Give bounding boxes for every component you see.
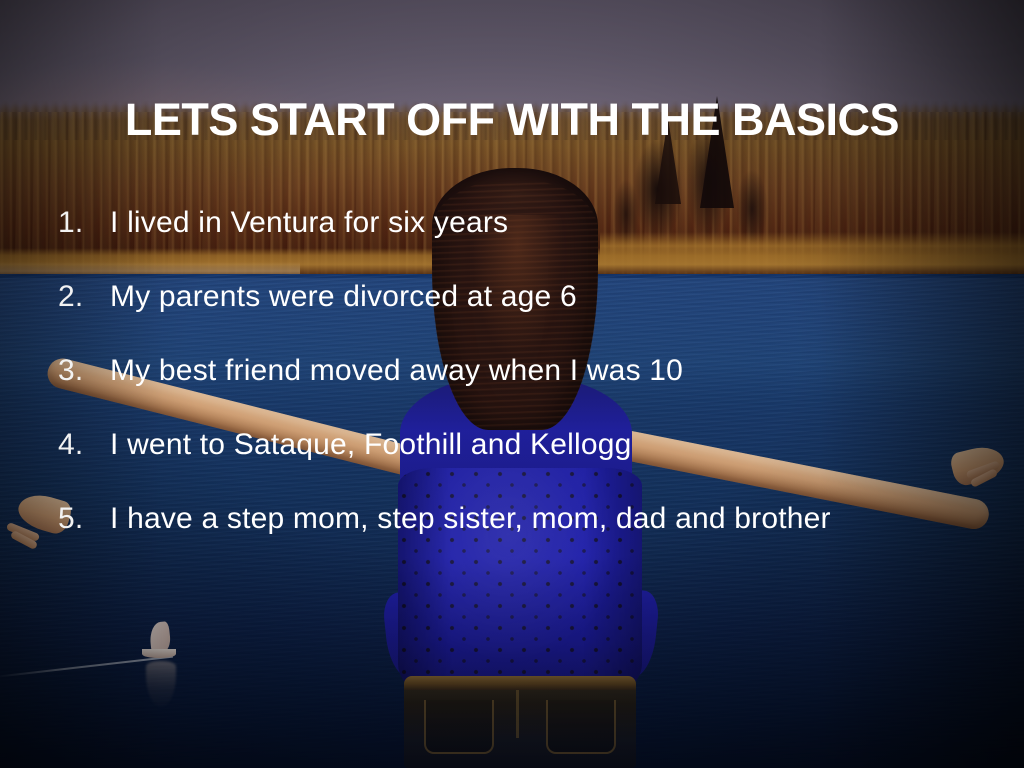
list-item: 4. I went to Sataque, Foothill and Kello… xyxy=(58,428,1018,502)
presentation-slide: LETS START OFF WITH THE BASICS 1. I live… xyxy=(0,0,1024,768)
list-item-number: 2. xyxy=(58,280,110,314)
list-item: 2. My parents were divorced at age 6 xyxy=(58,280,1018,354)
list-item: 3. My best friend moved away when I was … xyxy=(58,354,1018,428)
list-item-text: I lived in Ventura for six years xyxy=(110,206,508,240)
list-item-text: My parents were divorced at age 6 xyxy=(110,280,577,314)
list-item-number: 1. xyxy=(58,206,110,240)
numbered-list: 1. I lived in Ventura for six years 2. M… xyxy=(58,206,1018,576)
list-item-number: 3. xyxy=(58,354,110,388)
list-item: 5. I have a step mom, step sister, mom, … xyxy=(58,502,1018,576)
list-item-number: 5. xyxy=(58,502,110,536)
list-item-text: My best friend moved away when I was 10 xyxy=(110,354,683,388)
list-item-number: 4. xyxy=(58,428,110,462)
list-item-text: I went to Sataque, Foothill and Kellogg xyxy=(110,428,631,462)
slide-content: LETS START OFF WITH THE BASICS 1. I live… xyxy=(0,0,1024,768)
slide-title: LETS START OFF WITH THE BASICS xyxy=(0,96,1024,143)
list-item: 1. I lived in Ventura for six years xyxy=(58,206,1018,280)
list-item-text: I have a step mom, step sister, mom, dad… xyxy=(110,502,831,536)
